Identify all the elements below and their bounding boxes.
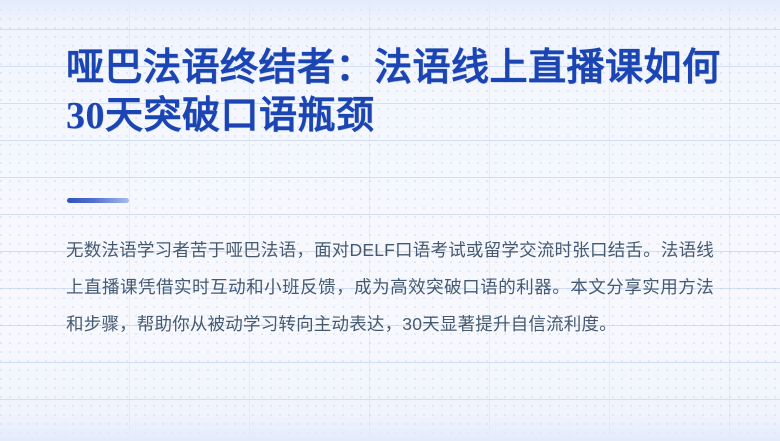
title-divider bbox=[67, 198, 129, 203]
card-content: 哑巴法语终结者：法语线上直播课如何30天突破口语瓶颈 无数法语学习者苦于哑巴法语… bbox=[66, 0, 726, 441]
page-title: 哑巴法语终结者：法语线上直播课如何30天突破口语瓶颈 bbox=[66, 44, 726, 140]
article-card: 哑巴法语终结者：法语线上直播课如何30天突破口语瓶颈 无数法语学习者苦于哑巴法语… bbox=[0, 0, 780, 441]
article-summary: 无数法语学习者苦于哑巴法语，面对DELF口语考试或留学交流时张口结舌。法语线上直… bbox=[66, 232, 714, 343]
